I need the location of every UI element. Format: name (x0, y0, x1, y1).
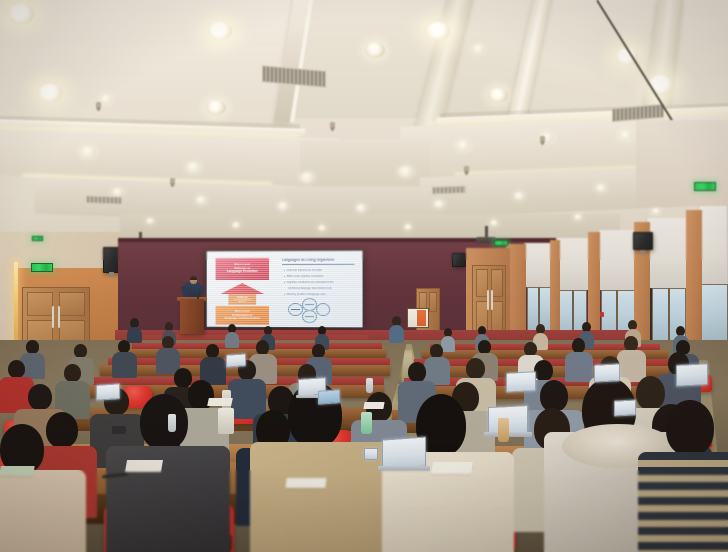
downlight-33 (574, 214, 582, 220)
head (666, 400, 714, 456)
door-left-panel-2 (59, 292, 85, 316)
head (524, 342, 537, 356)
laptop-10[interactable] (318, 389, 340, 405)
laptop-5[interactable] (594, 363, 620, 382)
slide-diagram-dash-3 (305, 316, 314, 317)
downlight-1 (8, 4, 34, 24)
head (8, 360, 25, 378)
downlight-32 (490, 220, 498, 226)
fire-alarm-icon (600, 312, 604, 317)
slide-title-underline (282, 264, 354, 265)
ceiling-panel-left (0, 0, 300, 128)
ceiling-projector-right (476, 237, 496, 243)
exit-sign-left-glow (32, 264, 52, 271)
slide-bullet-3: Cognitive constraints are embedded in th… (284, 281, 334, 284)
downlight-2 (208, 22, 232, 40)
head (256, 340, 269, 355)
head (140, 394, 188, 450)
head (430, 344, 443, 358)
downlight-26 (596, 184, 606, 192)
slide-arrow-body: Scales up over generations of speakers (228, 294, 256, 305)
body (127, 327, 142, 343)
exit-sign-far-left-glow (33, 237, 42, 240)
downlight-34 (652, 208, 660, 214)
bullet-dot-icon (284, 270, 285, 271)
paper-1 (207, 398, 233, 406)
head (636, 376, 665, 410)
door-right-handle-1[interactable] (487, 290, 489, 310)
presenter-head (190, 276, 197, 284)
lecture-hall-photo: Macro-Level Patterns in Language Evoluti… (0, 0, 728, 552)
slide-bullet-4-text: continuous language transmission loop (288, 287, 331, 290)
water-bottle-3[interactable] (366, 378, 373, 393)
laptop-4[interactable] (506, 371, 536, 393)
wall-pillar-5 (686, 210, 702, 352)
exit-sign-far-left-ceiling (32, 236, 43, 241)
downlight-31 (404, 224, 412, 230)
downlight-29 (232, 222, 240, 228)
roller-blind-3[interactable] (598, 230, 638, 290)
door-left-handle-1[interactable] (52, 306, 54, 328)
head (408, 362, 426, 382)
body (389, 325, 404, 343)
head (64, 364, 81, 382)
paper-5 (0, 466, 35, 476)
exit-sign-right-ceiling-glow (695, 183, 715, 190)
bullet-dot-icon (284, 282, 285, 283)
downlight-25 (514, 192, 524, 200)
downlight-28 (146, 218, 154, 224)
slide-macro-label-main-2: Language Evolution (227, 270, 258, 273)
body (112, 352, 137, 378)
thermos-1[interactable] (218, 408, 234, 434)
sprinkler-5 (170, 178, 175, 185)
head (466, 358, 485, 379)
drink-cup-green[interactable] (361, 412, 372, 434)
exit-sign-right-ceiling (694, 182, 716, 191)
paper-3 (431, 462, 473, 474)
downlight-7 (365, 42, 385, 58)
sprinkler-6 (464, 166, 469, 173)
water-bottle-2[interactable] (168, 414, 176, 432)
head (572, 338, 585, 353)
ceiling (0, 0, 728, 250)
roller-blind-5[interactable] (698, 206, 728, 284)
downlight-10 (80, 146, 96, 158)
head (206, 344, 219, 358)
downlight-21 (196, 196, 206, 204)
downlight-5 (38, 84, 62, 102)
podium (180, 299, 204, 334)
downlight-16 (618, 130, 633, 141)
head (46, 412, 78, 448)
laptop-11[interactable] (614, 399, 636, 416)
slide-bullet-5-text: Diversity predicts of language uses (287, 293, 326, 296)
slide-arrow-label-3: speakers (238, 300, 246, 302)
downlight-23 (356, 204, 366, 212)
slide-micro-label-main-2: language communication (224, 317, 260, 320)
projection-screen-frame: Macro-Level Patterns in Language Evoluti… (206, 250, 364, 329)
slide-macro-box: Macro-Level Patterns in Language Evoluti… (216, 258, 269, 280)
wall-speaker-right (633, 232, 653, 250)
downlight-6 (206, 100, 226, 115)
laptop-9[interactable] (96, 383, 120, 401)
head (174, 368, 192, 388)
head (74, 344, 87, 358)
downlight-12 (300, 172, 314, 183)
head (478, 340, 491, 354)
wall-poster-accent (417, 310, 426, 326)
slide-arrow-head (221, 283, 265, 294)
body (106, 446, 230, 552)
roller-blind-2[interactable] (556, 238, 590, 290)
bullet-dot-icon (284, 276, 285, 277)
downlight-3 (426, 22, 450, 40)
downlight-8 (488, 88, 508, 103)
slide-bullet-4: continuous language transmission loop (288, 287, 331, 290)
head (312, 344, 325, 358)
projection-screen: Macro-Level Patterns in Language Evoluti… (207, 251, 363, 328)
bullet-dot-icon (284, 294, 285, 295)
wall-speaker-right-mount (640, 250, 645, 254)
slide-diagram-circle-4 (316, 303, 330, 316)
door-right-handle-2[interactable] (491, 290, 493, 310)
air-vent-3 (86, 195, 122, 204)
drink-cup-iced[interactable] (498, 418, 509, 442)
air-vent-4 (432, 185, 466, 194)
body (225, 332, 239, 348)
downlight-20 (112, 188, 123, 196)
slide-bullet-3-text: Cognitive constraints are embedded in th… (287, 281, 334, 284)
downlight-22 (278, 202, 288, 210)
door-left-panel-1 (27, 292, 53, 316)
laptop-2[interactable] (382, 436, 426, 469)
head (534, 360, 553, 381)
phone-icon[interactable] (112, 426, 126, 434)
laptop-7[interactable] (364, 448, 378, 460)
ceiling-tier2-center (300, 140, 430, 186)
downlight-24 (434, 200, 444, 208)
head (624, 336, 638, 351)
exit-sign-right-wall-glow (495, 241, 507, 245)
door-left-handle-2[interactable] (58, 306, 60, 328)
head (26, 340, 39, 354)
slide-bullet-2: Shifts under cognitive constraints (284, 275, 323, 278)
slide-bullet-2-text: Shifts under cognitive constraints (287, 275, 324, 278)
downlight-11 (186, 162, 201, 173)
slide-bullet-5: Diversity predicts of language uses (284, 293, 325, 296)
downlight-18 (100, 94, 112, 104)
sprinkler-2 (330, 122, 335, 129)
slide-bullet-1: Grammar features are not static (284, 269, 322, 272)
downlight-9 (648, 75, 674, 95)
wall-speaker-center-left (452, 253, 466, 267)
slide-title: Languages as Living Organisms (282, 258, 334, 262)
body (638, 452, 728, 552)
head (28, 384, 52, 410)
downlight-19 (472, 44, 485, 54)
downlight-30 (318, 225, 326, 231)
laptop-8[interactable] (226, 353, 246, 367)
slide-diagram-dash-1 (291, 309, 300, 310)
slide-diagram-dash-2 (305, 304, 314, 305)
slide-micro-box: Micro-Level Preferences in language comm… (216, 306, 269, 325)
door-stage-right-panel-2 (429, 292, 437, 312)
sprinkler-1 (96, 102, 101, 109)
downlight-14 (456, 140, 470, 151)
paper-2 (125, 460, 163, 472)
exit-sign-left-wall (31, 263, 53, 272)
notebook-1 (285, 478, 326, 488)
downlight-13 (398, 166, 413, 177)
sprinkler-3 (540, 136, 545, 143)
wall-speaker-left-mount (109, 272, 114, 277)
slide-bullet-1-text: Grammar features are not static (287, 269, 322, 272)
paper-4 (363, 402, 384, 409)
laptop-6[interactable] (676, 363, 708, 387)
body (441, 336, 455, 352)
laptop-2-base (378, 466, 430, 471)
body (565, 352, 593, 382)
wall-right-upper-panel (636, 120, 728, 206)
exit-sign-right-wall (494, 240, 508, 246)
body (0, 470, 86, 552)
